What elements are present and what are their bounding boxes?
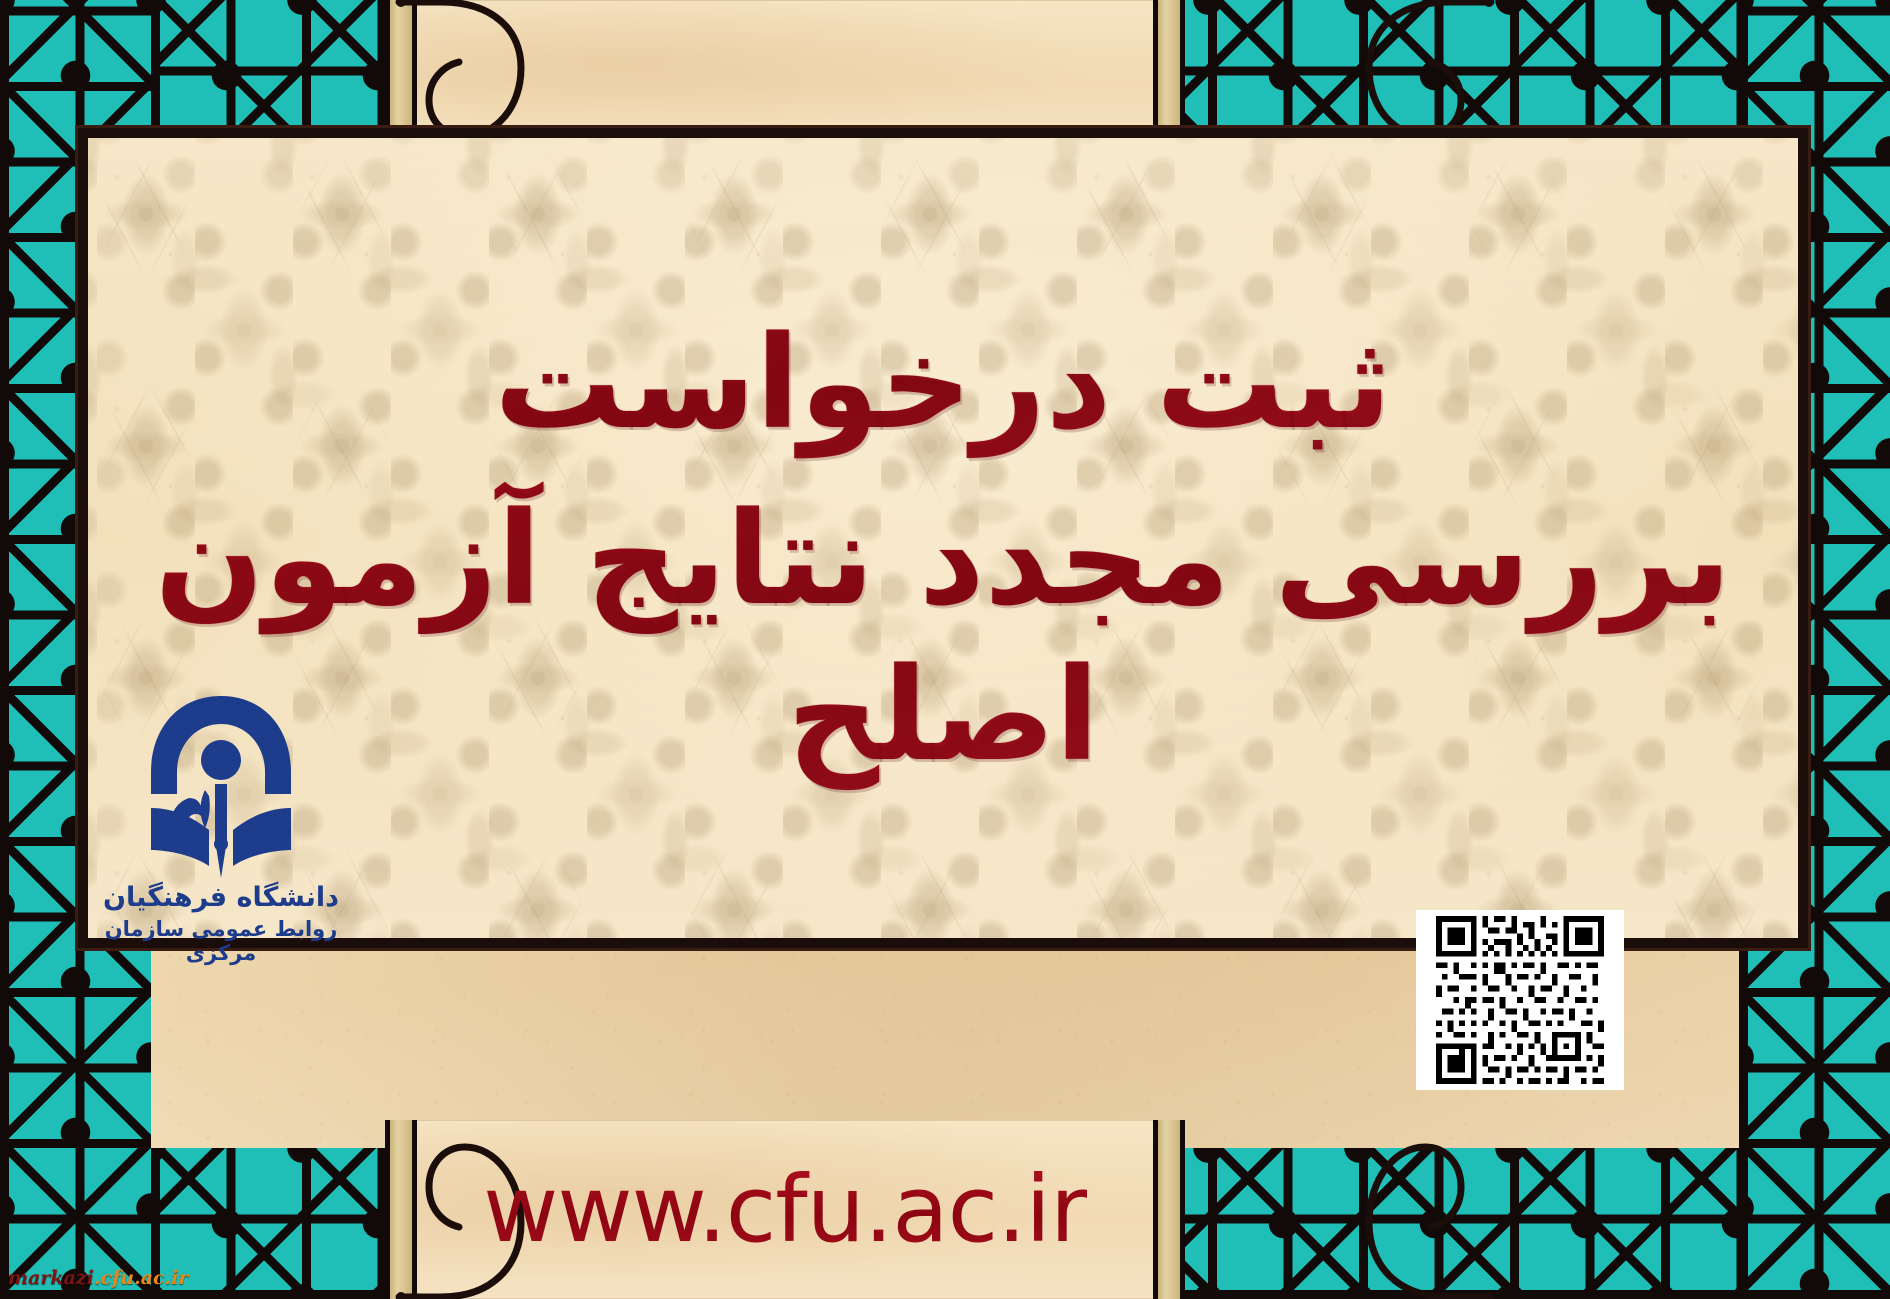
watermark-part-one: markazi: [8, 1267, 94, 1289]
headline-line-1: ثبت درخواست: [88, 306, 1798, 462]
website-url: www.cfu.ac.ir: [483, 1156, 1087, 1263]
qr-code-icon: [1422, 916, 1618, 1084]
qr-code[interactable]: [1416, 910, 1624, 1090]
logo-caption-department: روابط عمومی سازمان مرکزی: [96, 917, 346, 965]
source-watermark: markazi.cfu.ac.ir: [8, 1267, 188, 1289]
logo-caption-university: دانشگاه فرهنگیان: [96, 882, 346, 913]
website-url-strip[interactable]: www.cfu.ac.ir: [385, 1120, 1185, 1299]
poster-canvas: ثبت درخواست بررسی مجدد نتایج آزمون اصلح: [0, 0, 1890, 1299]
university-logo-block: دانشگاه فرهنگیان روابط عمومی سازمان مرکز…: [96, 690, 346, 965]
farhangian-university-logo-icon: [137, 690, 305, 880]
watermark-part-two: .cfu.ac.ir: [94, 1267, 189, 1289]
